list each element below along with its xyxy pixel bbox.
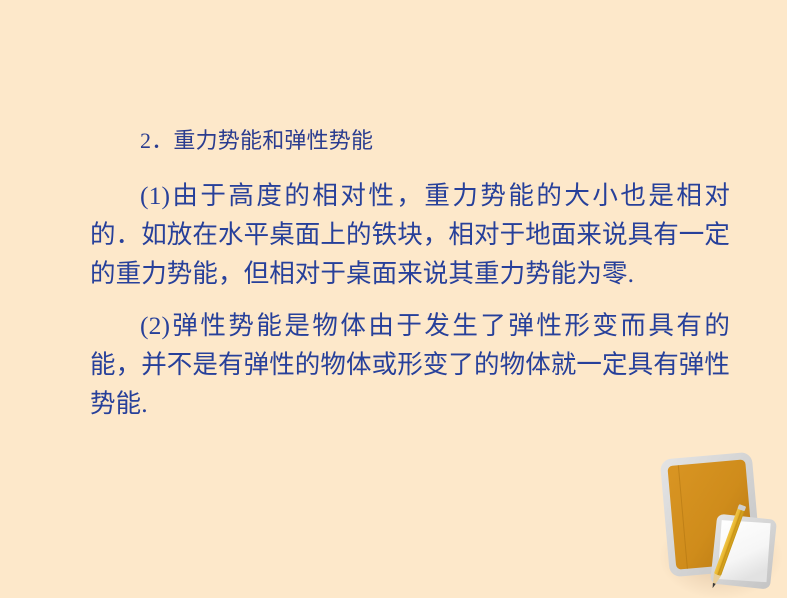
notebook-and-pencil-illustration [655, 445, 787, 598]
section-heading: 2．重力势能和弹性势能 [140, 126, 373, 156]
paper-sheet [710, 514, 777, 590]
slide-canvas: 2．重力势能和弹性势能 (1)由于高度的相对性，重力势能的大小也是相对的．如放在… [0, 0, 787, 598]
paragraph-1: (1)由于高度的相对性，重力势能的大小也是相对的．如放在水平桌面上的铁块，相对于… [90, 176, 730, 293]
paragraph-2: (2)弹性势能是物体由于发生了弹性形变而具有的能，并不是有弹性的物体或形变了的物… [90, 306, 730, 423]
